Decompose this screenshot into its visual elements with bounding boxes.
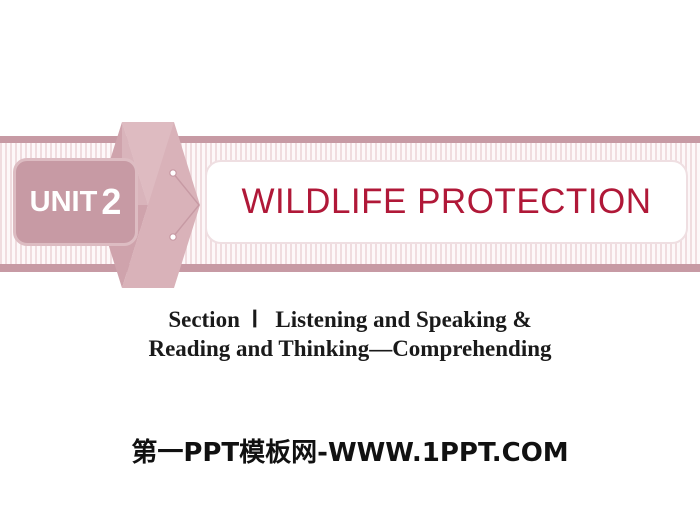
unit-label: UNIT bbox=[30, 188, 98, 217]
title-plate: WILDLIFE PROTECTION bbox=[205, 160, 688, 244]
unit-badge: UNIT 2 bbox=[13, 158, 138, 246]
subtitle: Section Ⅰ Listening and Speaking & Readi… bbox=[0, 305, 700, 364]
page-title: WILDLIFE PROTECTION bbox=[241, 182, 651, 222]
presentation-slide: UNIT 2 WILDLIFE PROTECTION Section Ⅰ Lis… bbox=[0, 0, 700, 525]
chevron-outline-icon bbox=[168, 168, 204, 242]
subtitle-line-1: Section Ⅰ Listening and Speaking & bbox=[0, 305, 700, 334]
unit-number: 2 bbox=[101, 184, 121, 220]
subtitle-line-2: Reading and Thinking—Comprehending bbox=[0, 334, 700, 363]
watermark-text: 第一PPT模板网-WWW.1PPT.COM bbox=[0, 432, 700, 469]
